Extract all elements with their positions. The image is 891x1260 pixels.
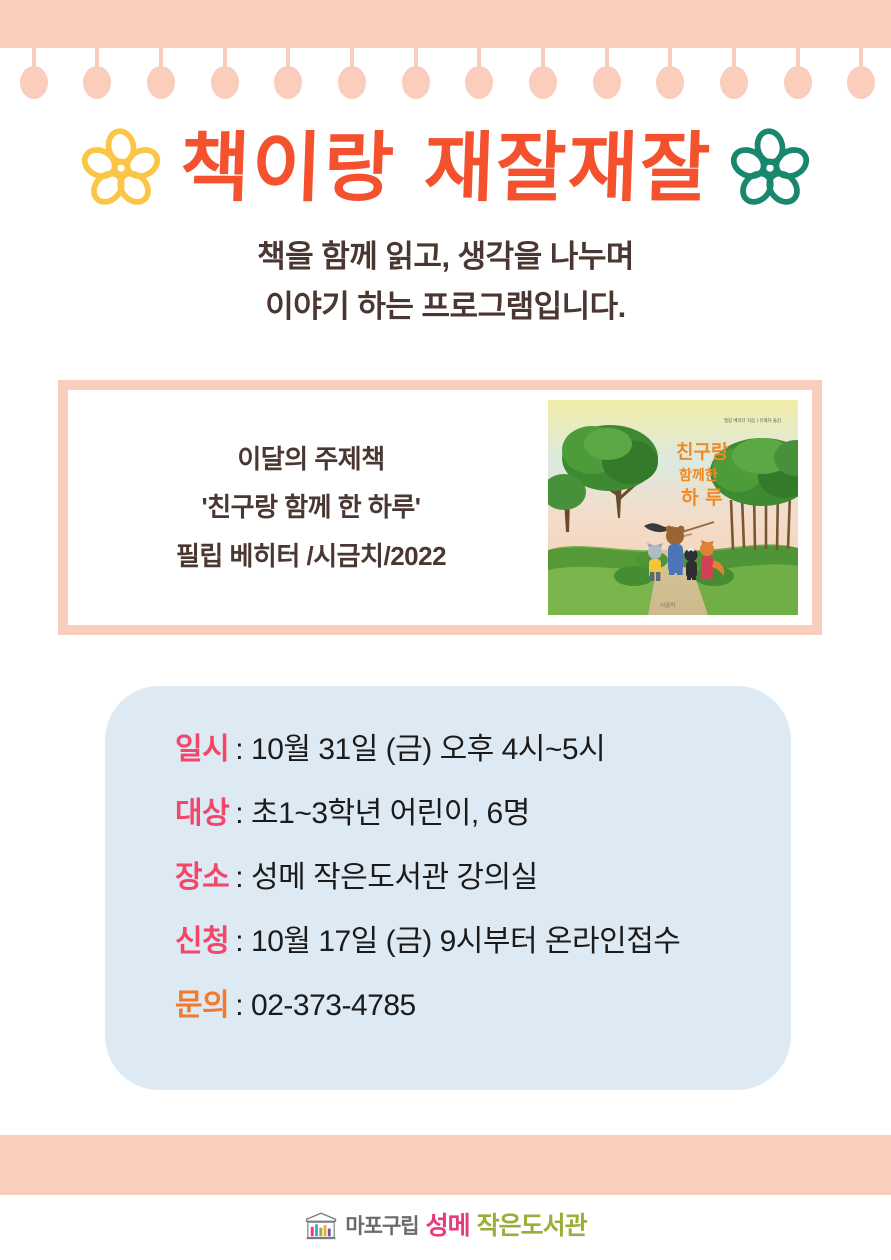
bead-string bbox=[414, 48, 418, 68]
book-cover-container: 친구랑 함께한 하 루 필립 베히터 지음 | 유혜자 옮김 시금치 bbox=[544, 397, 802, 619]
bead-string bbox=[159, 48, 163, 68]
bead-ball bbox=[593, 66, 621, 99]
info-label: 대상 bbox=[175, 788, 229, 832]
bead-ball bbox=[338, 66, 366, 99]
bead-ball bbox=[847, 66, 875, 99]
info-row: 장소:성메 작은도서관 강의실 bbox=[175, 852, 791, 896]
cover-author-credit: 필립 베히터 지음 | 유혜자 옮김 bbox=[724, 417, 781, 424]
poster-title-row: 책이랑 재잘재잘 bbox=[0, 112, 891, 224]
hanging-bead-garland bbox=[0, 48, 891, 100]
cover-title-line-1: 친구랑 bbox=[676, 441, 729, 463]
bottom-pink-banner bbox=[0, 1135, 891, 1195]
bead-string bbox=[796, 48, 800, 68]
info-label: 신청 bbox=[175, 916, 229, 960]
bead-ball bbox=[211, 66, 239, 99]
bead-string bbox=[95, 48, 99, 68]
info-value: 02-373-4785 bbox=[251, 989, 416, 1023]
bead-string bbox=[223, 48, 227, 68]
bead-ball bbox=[147, 66, 175, 99]
page-title: 책이랑 재잘재잘 bbox=[178, 130, 713, 206]
bead-string bbox=[32, 48, 36, 68]
featured-book-text: 이달의 주제책 '친구랑 함께 한 하루' 필립 베히터 /시금치/2022 bbox=[68, 435, 544, 579]
program-description: 책을 함께 읽고, 생각을 나누며 이야기 하는 프로그램입니다. bbox=[0, 232, 891, 332]
bead-ball bbox=[784, 66, 812, 99]
cover-title-line-2: 함께한 bbox=[679, 467, 718, 484]
info-label: 장소 bbox=[175, 852, 229, 896]
flower-icon-yellow bbox=[80, 127, 162, 209]
footer-org-prefix: 마포구립 bbox=[345, 1216, 418, 1237]
bead-string bbox=[286, 48, 290, 68]
footer-org-name: 성메 bbox=[426, 1214, 470, 1239]
flower-icon-green bbox=[729, 127, 811, 209]
bead-ball bbox=[656, 66, 684, 99]
info-separator: : bbox=[235, 733, 243, 767]
cover-title-line-3: 하 루 bbox=[681, 487, 723, 509]
bead-ball bbox=[83, 66, 111, 99]
bead-string bbox=[859, 48, 863, 68]
bead-string bbox=[732, 48, 736, 68]
bead-ball bbox=[20, 66, 48, 99]
subtitle-line-2: 이야기 하는 프로그램입니다. bbox=[0, 282, 891, 332]
info-separator: : bbox=[235, 861, 243, 895]
library-building-icon bbox=[304, 1211, 338, 1241]
info-row: 일시:10월 31일 (금) 오후 4시~5시 bbox=[175, 724, 791, 768]
info-value: 10월 31일 (금) 오후 4시~5시 bbox=[251, 724, 605, 768]
info-value: 성메 작은도서관 강의실 bbox=[251, 852, 538, 896]
bead-ball bbox=[465, 66, 493, 99]
info-row: 문의:02-373-4785 bbox=[175, 980, 791, 1024]
info-separator: : bbox=[235, 797, 243, 831]
info-value: 초1~3학년 어린이, 6명 bbox=[251, 788, 530, 832]
info-label: 문의 bbox=[175, 980, 229, 1024]
bead-ball bbox=[402, 66, 430, 99]
info-row: 대상:초1~3학년 어린이, 6명 bbox=[175, 788, 791, 832]
info-separator: : bbox=[235, 989, 243, 1023]
program-details-panel: 일시:10월 31일 (금) 오후 4시~5시대상:초1~3학년 어린이, 6명… bbox=[105, 686, 791, 1090]
featured-book-credits: 필립 베히터 /시금치/2022 bbox=[78, 532, 544, 580]
featured-book-heading: 이달의 주제책 bbox=[78, 435, 544, 483]
subtitle-line-1: 책을 함께 읽고, 생각을 나누며 bbox=[0, 232, 891, 282]
featured-book-box: 이달의 주제책 '친구랑 함께 한 하루' 필립 베히터 /시금치/2022 bbox=[58, 380, 822, 635]
bead-string bbox=[668, 48, 672, 68]
footer-org-suffix: 작은도서관 bbox=[477, 1214, 587, 1239]
info-separator: : bbox=[235, 925, 243, 959]
bead-ball bbox=[720, 66, 748, 99]
featured-book-title: '친구랑 함께 한 하루' bbox=[78, 483, 544, 531]
top-pink-banner bbox=[0, 0, 891, 48]
footer-logo: 마포구립 성메 작은도서관 bbox=[0, 1204, 891, 1248]
bead-ball bbox=[274, 66, 302, 99]
cover-publisher-mark: 시금치 bbox=[660, 601, 675, 609]
bead-ball bbox=[529, 66, 557, 99]
book-cover-image: 친구랑 함께한 하 루 필립 베히터 지음 | 유혜자 옮김 시금치 bbox=[548, 400, 798, 615]
info-value: 10월 17일 (금) 9시부터 온라인접수 bbox=[251, 916, 680, 960]
bead-string bbox=[605, 48, 609, 68]
info-row: 신청:10월 17일 (금) 9시부터 온라인접수 bbox=[175, 916, 791, 960]
bead-string bbox=[350, 48, 354, 68]
info-label: 일시 bbox=[175, 724, 229, 768]
bead-string bbox=[541, 48, 545, 68]
bead-string bbox=[477, 48, 481, 68]
